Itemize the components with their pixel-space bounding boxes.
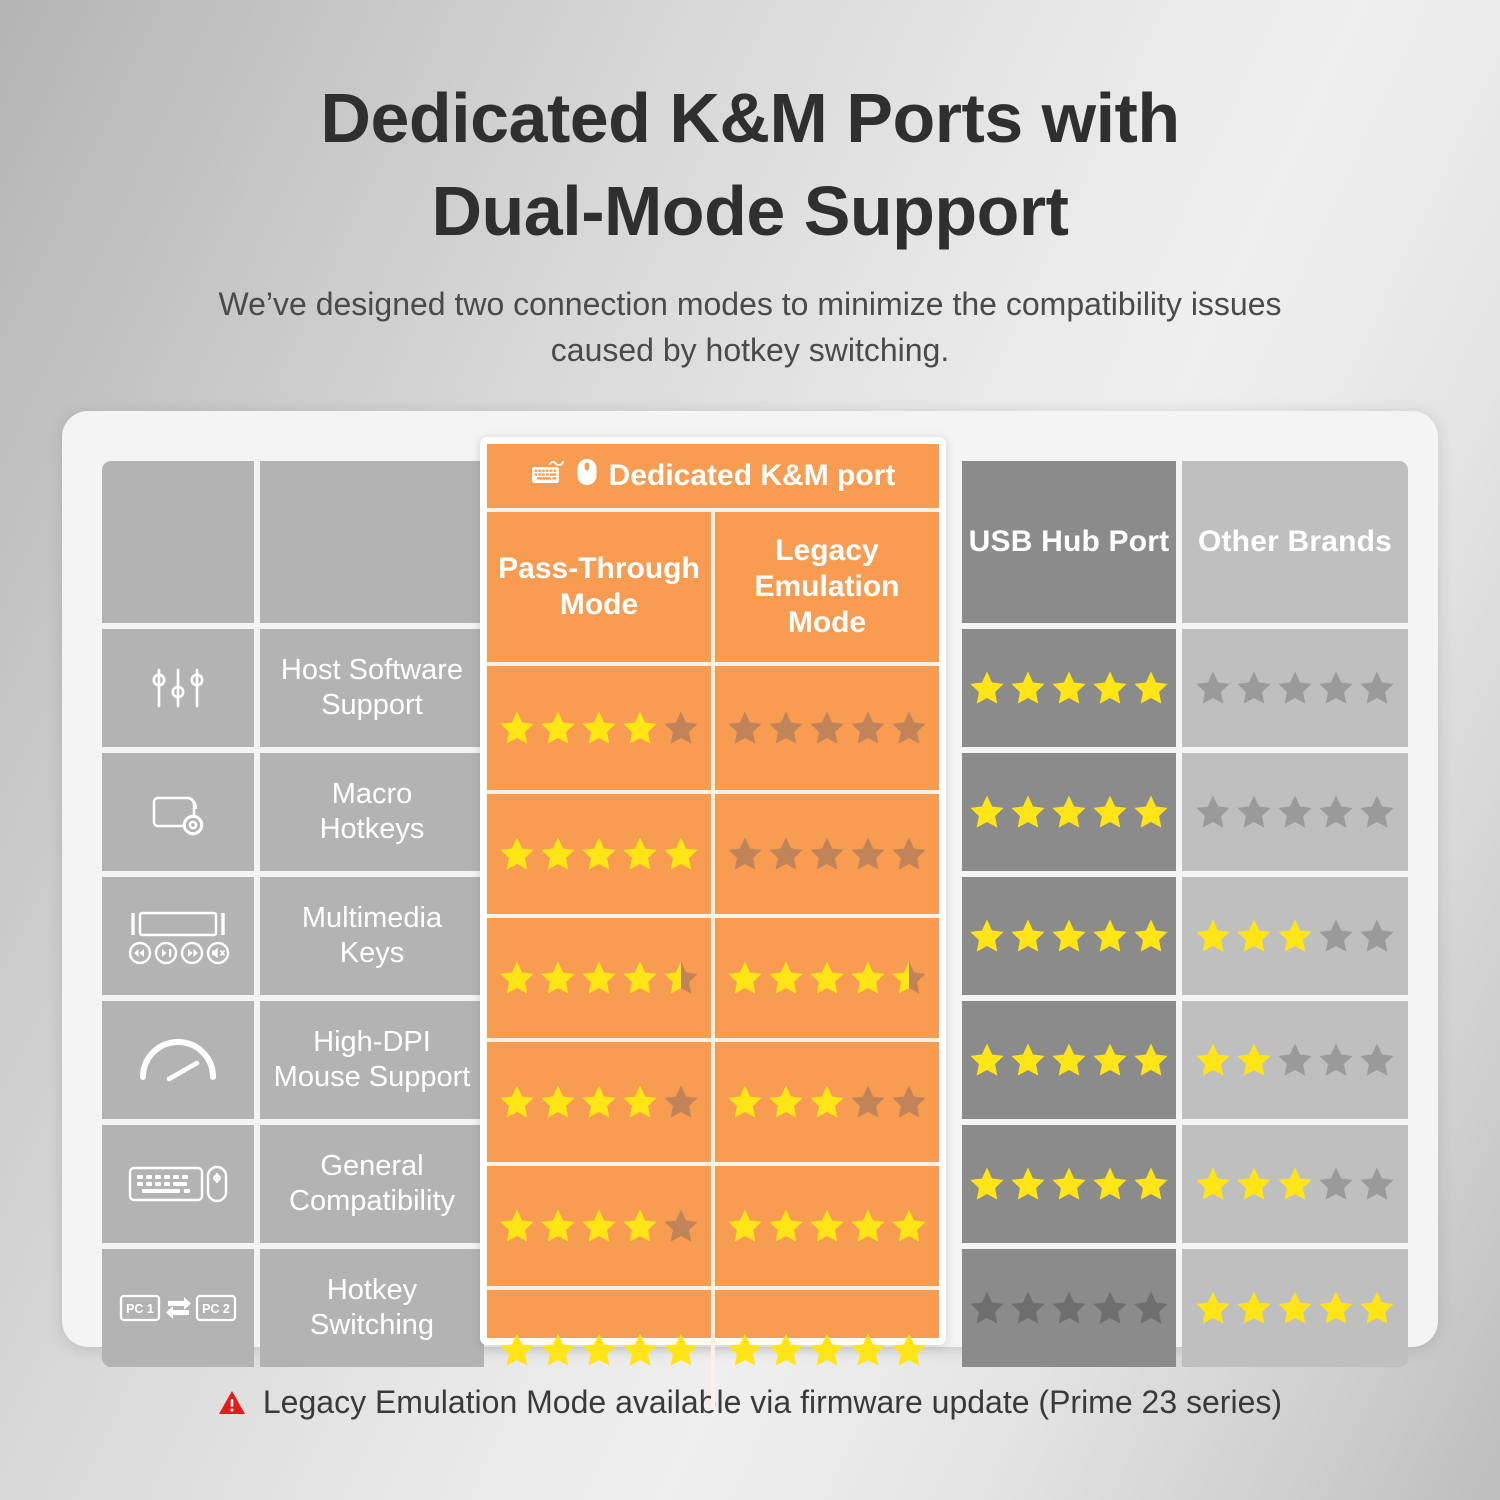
star-full <box>1091 793 1129 831</box>
column-label-usb-hub: USB Hub Port <box>969 524 1170 559</box>
star-full <box>890 1331 928 1369</box>
row-icon-cell <box>102 877 254 995</box>
rating-cell-pass-through <box>487 790 711 914</box>
star-rating <box>968 1041 1170 1079</box>
rating-cell-pass-through <box>487 914 711 1038</box>
header-cell-feature <box>260 461 484 623</box>
star-full <box>498 1083 536 1121</box>
svg-text:PC 2: PC 2 <box>202 1302 230 1316</box>
row-label-line1: Multimedia <box>302 902 442 934</box>
star-empty <box>662 1083 700 1121</box>
star-full <box>1050 917 1088 955</box>
star-full <box>808 1331 846 1369</box>
rating-cell-legacy-emulation <box>715 1286 939 1410</box>
star-full <box>726 959 764 997</box>
star-full <box>890 1207 928 1245</box>
star-empty <box>808 835 846 873</box>
star-full <box>580 1083 618 1121</box>
star-full <box>539 835 577 873</box>
star-full <box>1132 1041 1170 1079</box>
star-empty <box>890 1083 928 1121</box>
star-rating <box>498 835 700 873</box>
row-label-line1: Macro <box>332 778 413 810</box>
star-full <box>767 1331 805 1369</box>
star-full <box>1009 669 1047 707</box>
row-label-line2: Keys <box>340 937 404 969</box>
star-empty <box>1276 669 1314 707</box>
star-empty <box>849 709 887 747</box>
star-full <box>621 835 659 873</box>
star-empty <box>808 709 846 747</box>
row-label: High-DPI Mouse Support <box>266 1025 479 1096</box>
star-full <box>580 1207 618 1245</box>
star-full <box>1194 1289 1232 1327</box>
star-empty <box>1317 669 1355 707</box>
star-empty <box>1132 1289 1170 1327</box>
star-full <box>968 917 1006 955</box>
row-icon-cell <box>102 753 254 871</box>
star-rating <box>726 1083 928 1121</box>
star-empty <box>767 835 805 873</box>
media-keys-icon <box>126 905 230 967</box>
star-full <box>539 1331 577 1369</box>
star-full <box>539 1207 577 1245</box>
star-rating <box>968 917 1170 955</box>
star-empty <box>1235 793 1273 831</box>
star-empty <box>1358 1041 1396 1079</box>
star-full <box>1235 1289 1273 1327</box>
star-full <box>1132 793 1170 831</box>
star-full <box>968 669 1006 707</box>
rating-cell-usb-hub <box>962 1001 1176 1119</box>
star-empty <box>968 1289 1006 1327</box>
rating-cell-other-brands <box>1182 753 1408 871</box>
star-full <box>1276 917 1314 955</box>
star-full <box>1050 669 1088 707</box>
star-full <box>968 1165 1006 1203</box>
row-label-line2: Compatibility <box>289 1185 455 1217</box>
star-full <box>621 1207 659 1245</box>
rating-cell-usb-hub <box>962 1125 1176 1243</box>
star-full <box>767 959 805 997</box>
star-full <box>621 1331 659 1369</box>
star-full <box>808 959 846 997</box>
star-full <box>726 1083 764 1121</box>
star-empty <box>1235 669 1273 707</box>
star-empty <box>726 709 764 747</box>
star-full <box>1050 1041 1088 1079</box>
keyboard-mouse-icon <box>126 1159 230 1209</box>
star-full <box>1009 793 1047 831</box>
star-full <box>1358 1289 1396 1327</box>
star-full <box>1132 917 1170 955</box>
star-full <box>498 709 536 747</box>
page-subtitle-line2: caused by hotkey switching. <box>0 328 1500 373</box>
star-full <box>968 793 1006 831</box>
star-full <box>621 709 659 747</box>
dedicated-km-port-highlight: Dedicated K&M port Pass-Through Mode Leg… <box>480 437 946 1345</box>
row-label-line2: Switching <box>310 1309 434 1341</box>
row-label-line1: Hotkey <box>327 1274 417 1306</box>
star-full <box>580 835 618 873</box>
star-empty <box>1358 669 1396 707</box>
star-full <box>1132 669 1170 707</box>
highlight-rating-grid <box>487 666 939 1410</box>
star-rating <box>1194 1289 1396 1327</box>
rating-cell-other-brands <box>1182 1001 1408 1119</box>
row-label-line2: Support <box>321 689 423 721</box>
star-full <box>1009 1041 1047 1079</box>
star-full <box>1091 669 1129 707</box>
star-empty <box>1317 793 1355 831</box>
star-full <box>1276 1289 1314 1327</box>
star-rating <box>1194 1165 1396 1203</box>
star-full <box>726 1331 764 1369</box>
column-label-pass-through: Pass-Through Mode <box>487 512 715 662</box>
star-full <box>580 1331 618 1369</box>
svg-text:PC 1: PC 1 <box>126 1302 154 1316</box>
star-empty <box>1091 1289 1129 1327</box>
row-label-line2: Mouse Support <box>274 1061 471 1093</box>
page-subtitle: We’ve designed two connection modes to m… <box>0 282 1500 373</box>
star-full <box>539 1083 577 1121</box>
star-empty <box>849 835 887 873</box>
star-empty <box>1194 793 1232 831</box>
star-empty <box>1317 1041 1355 1079</box>
rating-cell-pass-through <box>487 666 711 790</box>
keyboard-icon <box>531 459 565 493</box>
page-title: Dedicated K&M Ports with Dual-Mode Suppo… <box>0 72 1500 258</box>
star-full <box>539 959 577 997</box>
column-label-other-brands: Other Brands <box>1198 524 1392 559</box>
star-empty <box>849 1083 887 1121</box>
star-full <box>1194 917 1232 955</box>
star-empty <box>1050 1289 1088 1327</box>
star-full <box>1009 917 1047 955</box>
rating-cell-usb-hub <box>962 753 1176 871</box>
star-full <box>726 1207 764 1245</box>
star-rating <box>498 1207 700 1245</box>
rating-cell-legacy-emulation <box>715 666 939 790</box>
star-full <box>498 1207 536 1245</box>
star-rating <box>726 1331 928 1369</box>
row-label-line2: Hotkeys <box>320 813 425 845</box>
rating-cell-other-brands <box>1182 1125 1408 1243</box>
rating-cell-other-brands <box>1182 877 1408 995</box>
row-label: Host Software Support <box>273 653 471 724</box>
column-label-legacy-emulation: Legacy Emulation Mode <box>715 512 939 662</box>
star-empty <box>726 835 764 873</box>
star-rating <box>968 1165 1170 1203</box>
star-half <box>662 959 700 997</box>
rating-cell-usb-hub <box>962 629 1176 747</box>
row-label: Hotkey Switching <box>302 1273 442 1344</box>
row-label-cell: Hotkey Switching <box>260 1249 484 1367</box>
star-full <box>662 1331 700 1369</box>
page-subtitle-line1: We’ve designed two connection modes to m… <box>0 282 1500 327</box>
star-rating <box>968 669 1170 707</box>
star-full <box>1050 793 1088 831</box>
star-rating <box>968 793 1170 831</box>
star-full <box>1091 1041 1129 1079</box>
star-empty <box>890 835 928 873</box>
star-full <box>662 835 700 873</box>
star-rating <box>726 835 928 873</box>
sliders-icon <box>146 664 210 712</box>
star-full <box>1050 1165 1088 1203</box>
star-rating <box>498 1083 700 1121</box>
row-label-line1: High-DPI <box>313 1026 431 1058</box>
row-label-cell: Host Software Support <box>260 629 484 747</box>
row-label-cell: High-DPI Mouse Support <box>260 1001 484 1119</box>
star-full <box>498 1331 536 1369</box>
star-rating <box>726 1207 928 1245</box>
star-full <box>767 1083 805 1121</box>
row-label-line1: Host Software <box>281 654 463 686</box>
star-empty <box>767 709 805 747</box>
highlight-column-legacy-emulation <box>715 666 939 1410</box>
row-icon-cell <box>102 1125 254 1243</box>
star-rating <box>1194 917 1396 955</box>
star-full <box>1091 1165 1129 1203</box>
row-label-line1: General <box>320 1150 423 1182</box>
star-full <box>808 1207 846 1245</box>
row-icon-cell: PC 1 PC 2 <box>102 1249 254 1367</box>
star-rating <box>726 959 928 997</box>
macro-key-gear-icon <box>146 784 210 840</box>
star-rating <box>498 1331 700 1369</box>
page-title-line1: Dedicated K&M Ports with <box>0 72 1500 165</box>
star-rating <box>498 959 700 997</box>
header-cell-usb-hub: USB Hub Port <box>962 461 1176 623</box>
highlight-column-pass-through <box>487 666 715 1410</box>
star-empty <box>1358 793 1396 831</box>
row-label: General Compatibility <box>281 1149 463 1220</box>
star-full <box>849 959 887 997</box>
rating-cell-legacy-emulation <box>715 1038 939 1162</box>
star-full <box>1091 917 1129 955</box>
row-icon-cell <box>102 1001 254 1119</box>
highlight-subheaders: Pass-Through Mode Legacy Emulation Mode <box>487 512 939 666</box>
star-rating <box>1194 1041 1396 1079</box>
star-rating <box>968 1289 1170 1327</box>
star-empty <box>1194 669 1232 707</box>
warning-triangle-icon <box>218 1387 246 1424</box>
row-label-cell: Macro Hotkeys <box>260 753 484 871</box>
row-icon-cell <box>102 629 254 747</box>
star-empty <box>1276 793 1314 831</box>
row-label-cell: Multimedia Keys <box>260 877 484 995</box>
highlight-banner-label: Dedicated K&M port <box>609 459 896 493</box>
star-full <box>498 959 536 997</box>
star-full <box>1132 1165 1170 1203</box>
row-label: Macro Hotkeys <box>312 777 433 848</box>
star-full <box>1276 1165 1314 1203</box>
rating-cell-usb-hub <box>962 1249 1176 1367</box>
rating-cell-legacy-emulation <box>715 790 939 914</box>
star-empty <box>1358 917 1396 955</box>
star-empty <box>890 709 928 747</box>
star-full <box>580 709 618 747</box>
star-full <box>968 1041 1006 1079</box>
star-full <box>1235 1165 1273 1203</box>
rating-cell-legacy-emulation <box>715 1162 939 1286</box>
star-half <box>890 959 928 997</box>
star-empty <box>662 709 700 747</box>
star-full <box>539 709 577 747</box>
header-cell-other-brands: Other Brands <box>1182 461 1408 623</box>
star-full <box>621 959 659 997</box>
star-full <box>1317 1289 1355 1327</box>
row-label: Multimedia Keys <box>294 901 450 972</box>
star-full <box>1194 1041 1232 1079</box>
star-full <box>1235 917 1273 955</box>
star-full <box>498 835 536 873</box>
star-empty <box>662 1207 700 1245</box>
star-empty <box>1317 1165 1355 1203</box>
highlight-banner: Dedicated K&M port <box>487 444 939 512</box>
star-rating <box>1194 793 1396 831</box>
rating-cell-usb-hub <box>962 877 1176 995</box>
rating-cell-legacy-emulation <box>715 914 939 1038</box>
rating-cell-other-brands <box>1182 1249 1408 1367</box>
star-full <box>1194 1165 1232 1203</box>
star-rating <box>726 709 928 747</box>
mouse-icon <box>576 458 598 494</box>
rating-cell-pass-through <box>487 1286 711 1410</box>
star-full <box>767 1207 805 1245</box>
star-full <box>808 1083 846 1121</box>
star-full <box>849 1331 887 1369</box>
rating-cell-pass-through <box>487 1162 711 1286</box>
star-full <box>849 1207 887 1245</box>
page-title-line2: Dual-Mode Support <box>0 165 1500 258</box>
star-empty <box>1009 1289 1047 1327</box>
star-empty <box>1317 917 1355 955</box>
star-full <box>1235 1041 1273 1079</box>
star-full <box>580 959 618 997</box>
star-rating <box>1194 669 1396 707</box>
page-header: Dedicated K&M Ports with Dual-Mode Suppo… <box>0 0 1500 373</box>
star-empty <box>1276 1041 1314 1079</box>
pc-switch-icon: PC 1 PC 2 <box>119 1287 237 1329</box>
star-rating <box>498 709 700 747</box>
star-full <box>1009 1165 1047 1203</box>
star-full <box>621 1083 659 1121</box>
header-cell-icon <box>102 461 254 623</box>
rating-cell-pass-through <box>487 1038 711 1162</box>
rating-cell-other-brands <box>1182 629 1408 747</box>
star-empty <box>1358 1165 1396 1203</box>
speedometer-icon <box>135 1035 221 1085</box>
row-label-cell: General Compatibility <box>260 1125 484 1243</box>
